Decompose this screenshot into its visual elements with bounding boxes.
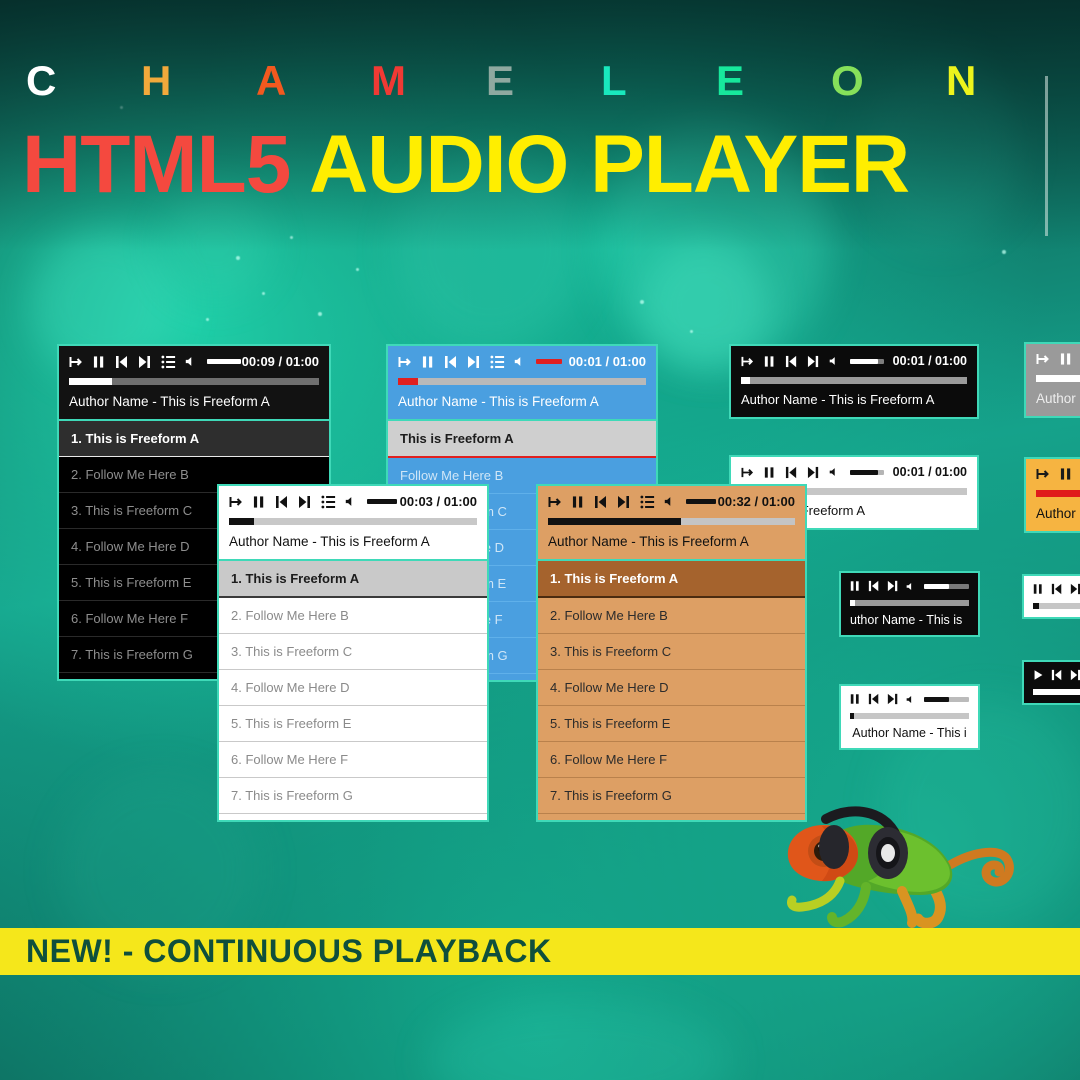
headline-block: CHAMELEON HTML5 AUDIO PLAYER [0,60,1080,206]
volume-slider[interactable] [536,359,560,364]
pause-icon[interactable] [253,495,266,509]
seek-fill [1033,689,1080,695]
transport-bar [850,580,969,592]
time-display: 00:01 / 01:00 [569,354,646,369]
playlist-item[interactable]: 1. This is Freeform A [219,561,487,598]
playlist-item[interactable]: 4. Follow Me Here D [219,670,487,706]
audio-player-mini-dark-clipped[interactable] [1022,660,1080,705]
seek-fill [850,600,855,606]
volume-fill [536,359,562,364]
brand-letter-8: N [946,60,1061,102]
playlist-icon[interactable] [490,355,505,369]
promo-banner-text: NEW! - CONTINUOUS PLAYBACK [0,933,552,970]
player-header: Author N [1024,457,1080,533]
pause-icon[interactable] [1033,583,1044,595]
now-playing-label: Author N [1036,391,1080,406]
volume-fill [207,359,241,364]
previous-track-icon[interactable] [868,693,880,705]
playlist-item[interactable]: 3. This is Freeform C [219,634,487,670]
transport-bar: 00:01 / 01:00 [741,354,967,368]
seek-slider[interactable] [1033,603,1080,609]
previous-track-icon[interactable] [594,495,608,509]
volume-fill [367,499,397,504]
next-track-icon[interactable] [617,495,631,509]
title-audio-player: AUDIO PLAYER [309,119,909,210]
seek-fill [1036,375,1080,382]
seek-fill [850,713,854,719]
chameleon-mascot-icon [762,795,1032,935]
playlist-item[interactable]: 5. This is Freeform E [538,706,805,742]
volume-slider[interactable] [367,499,391,504]
next-track-icon[interactable] [1070,583,1080,595]
brand-letter-0: C [26,60,141,102]
volume-fill [924,584,949,589]
player-header: Author N [1024,342,1080,418]
now-playing-label: uthor Name - This is [850,613,969,627]
brand-letter-6: E [716,60,831,102]
volume-icon[interactable] [829,466,839,478]
next-track-icon[interactable] [887,693,899,705]
playlist-item[interactable]: 1. This is Freeform A [59,421,329,457]
seek-fill [741,377,750,384]
pause-icon[interactable] [422,355,435,369]
transport-bar: 00:03 / 01:00 [229,494,477,509]
title-html5: HTML5 [22,119,290,210]
seek-fill [548,518,681,525]
seek-fill [398,378,418,385]
transport-bar [850,693,969,705]
next-track-icon[interactable] [807,466,820,479]
pause-icon[interactable] [764,355,776,368]
volume-icon[interactable] [664,495,675,508]
volume-slider[interactable] [850,359,884,364]
volume-slider[interactable] [207,359,233,364]
previous-track-icon[interactable] [785,466,798,479]
play-icon[interactable] [1033,669,1044,681]
player-header: 00:32 / 01:00 Author Name - This is Free… [536,484,807,561]
pause-icon[interactable] [850,693,861,705]
player-header: 00:09 / 01:00 Author Name - This is Free… [57,344,331,421]
pause-icon[interactable] [850,580,861,592]
transport-bar [1033,583,1080,595]
sparkle [262,292,265,295]
volume-slider[interactable] [686,499,709,504]
brand-letter-7: O [831,60,946,102]
seek-slider[interactable] [1033,689,1080,695]
playlist-panel[interactable]: 1. This is Freeform A2. Follow Me Here B… [536,561,807,822]
next-track-icon[interactable] [1070,669,1080,681]
audio-player-dark-compact[interactable]: 00:01 / 01:00 Author Name - This is Free… [729,344,979,419]
player-header [1022,574,1080,619]
transport-bar: 00:01 / 01:00 [398,354,646,369]
now-playing-label: Author Name - This is Freeform A [548,534,795,549]
transport-bar: 00:01 / 01:00 [741,465,967,479]
restart-icon[interactable] [1036,467,1051,481]
now-playing-label: Author Name - This is Freeform A [398,394,646,409]
now-playing-label: Author N [1036,506,1080,521]
time-display: 00:32 / 01:00 [718,494,795,509]
audio-player-white-with-playlist[interactable]: 00:03 / 01:00 Author Name - This is Free… [217,484,489,822]
volume-fill [850,359,878,364]
restart-icon[interactable] [548,495,563,509]
playlist-item[interactable]: 6. Follow Me Here F [538,742,805,778]
previous-track-icon[interactable] [115,355,129,369]
seek-fill [229,518,254,525]
playlist-item[interactable]: 2. Follow Me Here B [538,598,805,634]
volume-fill [850,470,878,475]
sparkle [236,256,240,260]
brand-letter-2: A [256,60,371,102]
volume-icon[interactable] [345,495,356,508]
seek-slider[interactable] [69,378,319,385]
volume-slider[interactable] [850,470,884,475]
previous-track-icon[interactable] [1051,583,1063,595]
time-display: 00:01 / 01:00 [893,354,967,368]
previous-track-icon[interactable] [444,355,458,369]
pause-icon[interactable] [93,355,106,369]
transport-bar [1033,669,1080,681]
volume-icon[interactable] [906,694,915,705]
sparkle [1002,250,1006,254]
sparkle [640,300,644,304]
audio-player-orange-with-playlist[interactable]: 00:32 / 01:00 Author Name - This is Free… [536,484,807,822]
seek-slider[interactable] [741,377,967,384]
audio-player-mini-white[interactable]: Author Name - This i [839,684,980,750]
restart-icon[interactable] [69,355,84,369]
page-title: HTML5 AUDIO PLAYER [0,124,1080,206]
seek-slider[interactable] [1036,490,1080,497]
player-header: 00:03 / 01:00 Author Name - This is Free… [217,484,489,561]
restart-icon[interactable] [741,355,755,368]
volume-slider[interactable] [924,697,969,702]
header-divider-rule [1045,76,1048,236]
player-header [1022,660,1080,705]
seek-fill [1033,603,1039,609]
playlist-icon[interactable] [640,495,655,509]
seek-slider[interactable] [1036,375,1080,382]
playlist-items: 1. This is Freeform A2. Follow Me Here B… [219,561,487,814]
brand-word-chameleon: CHAMELEON [0,60,1080,102]
pause-icon[interactable] [764,466,776,479]
playlist-item[interactable]: 7. This is Freeform G [219,778,487,814]
volume-icon[interactable] [514,355,525,368]
player-header: 00:01 / 01:00 Author Name - This is Free… [386,344,658,421]
now-playing-label: Author Name - This is Freeform A [741,392,967,407]
seek-slider[interactable] [850,713,969,719]
brand-letter-1: H [141,60,256,102]
next-track-icon[interactable] [807,355,820,368]
next-track-icon[interactable] [298,495,312,509]
seek-slider[interactable] [229,518,477,525]
restart-icon[interactable] [741,466,755,479]
sparkle [318,312,322,316]
playlist-item[interactable]: 3. This is Freeform C [538,634,805,670]
seek-slider[interactable] [398,378,646,385]
promo-banner: NEW! - CONTINUOUS PLAYBACK [0,928,1080,975]
pause-icon[interactable] [572,495,585,509]
previous-track-icon[interactable] [275,495,289,509]
playlist-item[interactable]: This is Freeform A [388,421,656,458]
playlist-icon[interactable] [321,495,336,509]
transport-bar: 00:32 / 01:00 [548,494,795,509]
pause-icon[interactable] [1060,467,1073,481]
seek-fill [1036,490,1080,497]
playlist-item[interactable]: 4. Follow Me Here D [538,670,805,706]
next-track-icon[interactable] [138,355,152,369]
brand-letter-3: M [371,60,486,102]
player-header: uthor Name - This is [839,571,980,637]
playlist-items: 1. This is Freeform A2. Follow Me Here B… [538,561,805,814]
seek-fill [69,378,112,385]
playlist-item[interactable]: 1. This is Freeform A [538,561,805,598]
audio-player-mini-white-clipped[interactable] [1022,574,1080,619]
now-playing-label: Author Name - This is Freeform A [229,534,477,549]
transport-bar [1036,352,1080,366]
brand-letter-4: E [486,60,601,102]
playlist-item[interactable]: 6. Follow Me Here F [219,742,487,778]
now-playing-label: Author Name - This i [850,726,969,740]
sparkle [690,330,693,333]
player-header: 00:01 / 01:00 Author Name - This is Free… [729,344,979,419]
transport-bar: 00:09 / 01:00 [69,354,319,369]
restart-icon[interactable] [398,355,413,369]
time-display: 00:09 / 01:00 [242,354,319,369]
brand-letter-5: L [601,60,716,102]
volume-icon[interactable] [829,355,839,367]
previous-track-icon[interactable] [785,355,798,368]
now-playing-label: Author Name - This is Freeform A [69,394,319,409]
volume-icon[interactable] [185,355,196,368]
volume-icon[interactable] [906,581,915,592]
audio-player-mini-dark[interactable]: uthor Name - This is [839,571,980,637]
playlist-panel[interactable]: 1. This is Freeform A2. Follow Me Here B… [217,561,489,822]
volume-slider[interactable] [924,584,969,589]
seek-slider[interactable] [548,518,795,525]
player-header: Author Name - This i [839,684,980,750]
audio-player-gray-clipped[interactable]: Author N [1024,342,1080,418]
playlist-item[interactable]: 5. This is Freeform E [219,706,487,742]
sparkle [356,268,359,271]
time-display: 00:01 / 01:00 [893,465,967,479]
sparkle [206,318,209,321]
pause-icon[interactable] [1060,352,1073,366]
volume-fill [686,499,716,504]
restart-icon[interactable] [229,495,244,509]
previous-track-icon[interactable] [1051,669,1063,681]
restart-icon[interactable] [1036,352,1051,366]
playlist-item[interactable]: 2. Follow Me Here B [219,598,487,634]
audio-player-amber-clipped[interactable]: Author N [1024,457,1080,533]
previous-track-icon[interactable] [868,580,880,592]
next-track-icon[interactable] [467,355,481,369]
transport-bar [1036,467,1080,481]
volume-fill [924,697,949,702]
seek-slider[interactable] [850,600,969,606]
next-track-icon[interactable] [887,580,899,592]
time-display: 00:03 / 01:00 [400,494,477,509]
playlist-icon[interactable] [161,355,176,369]
